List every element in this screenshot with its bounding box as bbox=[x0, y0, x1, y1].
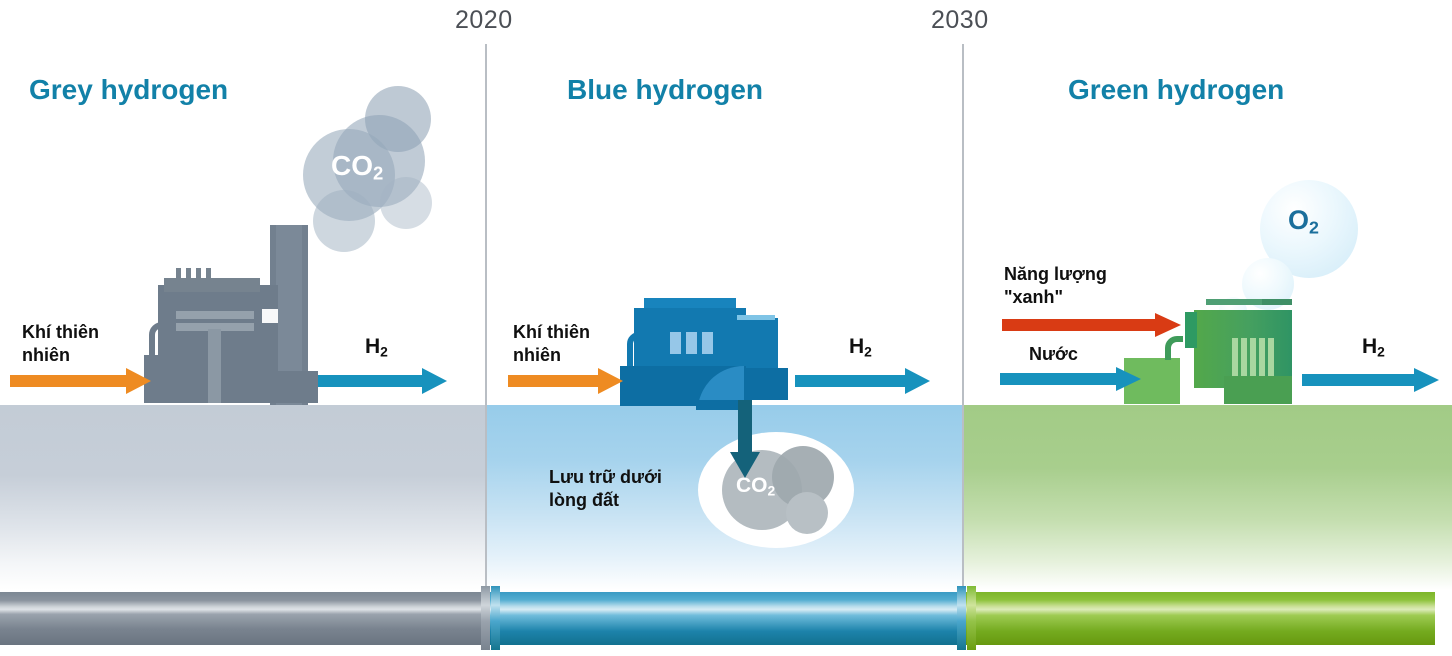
input-arrow-natural-gas-grey bbox=[10, 368, 152, 394]
output-arrow-hydrogen-blue bbox=[795, 368, 931, 394]
plant-blue bbox=[620, 288, 800, 410]
panel-title-blue: Blue hydrogen bbox=[567, 74, 763, 106]
year-marker-2030: 2030 bbox=[931, 6, 989, 35]
ground-green bbox=[964, 405, 1452, 590]
pipe-flange-left bbox=[481, 586, 490, 650]
output-arrow-hydrogen-grey bbox=[318, 368, 448, 394]
label-natural-gas-blue: Khí thiên nhiên bbox=[513, 321, 590, 366]
co2-label-grey: CO2 bbox=[331, 150, 383, 185]
input-arrow-natural-gas-blue bbox=[508, 368, 624, 394]
label-natural-gas-grey: Khí thiên nhiên bbox=[22, 321, 99, 366]
label-hydrogen-green: H2 bbox=[1362, 335, 1385, 359]
input-arrow-water bbox=[1000, 367, 1142, 391]
pipeline-grey bbox=[0, 592, 487, 645]
plant-grey bbox=[140, 225, 340, 405]
divider-2020 bbox=[485, 44, 487, 590]
label-underground-storage: Lưu trữ dưới lòng đất bbox=[549, 466, 662, 511]
pipeline-blue bbox=[487, 592, 964, 645]
label-water: Nước bbox=[1029, 343, 1078, 366]
plant-green bbox=[1124, 294, 1320, 406]
year-marker-2020: 2020 bbox=[455, 6, 513, 35]
pipe-flange-right bbox=[967, 586, 976, 650]
pipe-flange-right-inner bbox=[957, 586, 966, 650]
storage-arrow-down bbox=[730, 400, 760, 478]
input-arrow-green-energy bbox=[1002, 313, 1182, 337]
o2-label-green: O2 bbox=[1288, 205, 1319, 238]
pipe-flange-left-inner bbox=[491, 586, 500, 650]
label-hydrogen-blue: H2 bbox=[849, 335, 872, 359]
label-hydrogen-grey: H2 bbox=[365, 335, 388, 359]
divider-2030 bbox=[962, 44, 964, 590]
output-arrow-hydrogen-green bbox=[1302, 368, 1440, 392]
panel-title-green: Green hydrogen bbox=[1068, 74, 1284, 106]
label-green-energy: Năng lượng "xanh" bbox=[1004, 263, 1107, 308]
pipeline-green bbox=[964, 592, 1435, 645]
ground-grey bbox=[0, 405, 485, 590]
panel-title-grey: Grey hydrogen bbox=[29, 74, 228, 106]
infographic-canvas: 2020 2030 Grey hydrogen CO2 Khí thiên n bbox=[0, 0, 1452, 656]
